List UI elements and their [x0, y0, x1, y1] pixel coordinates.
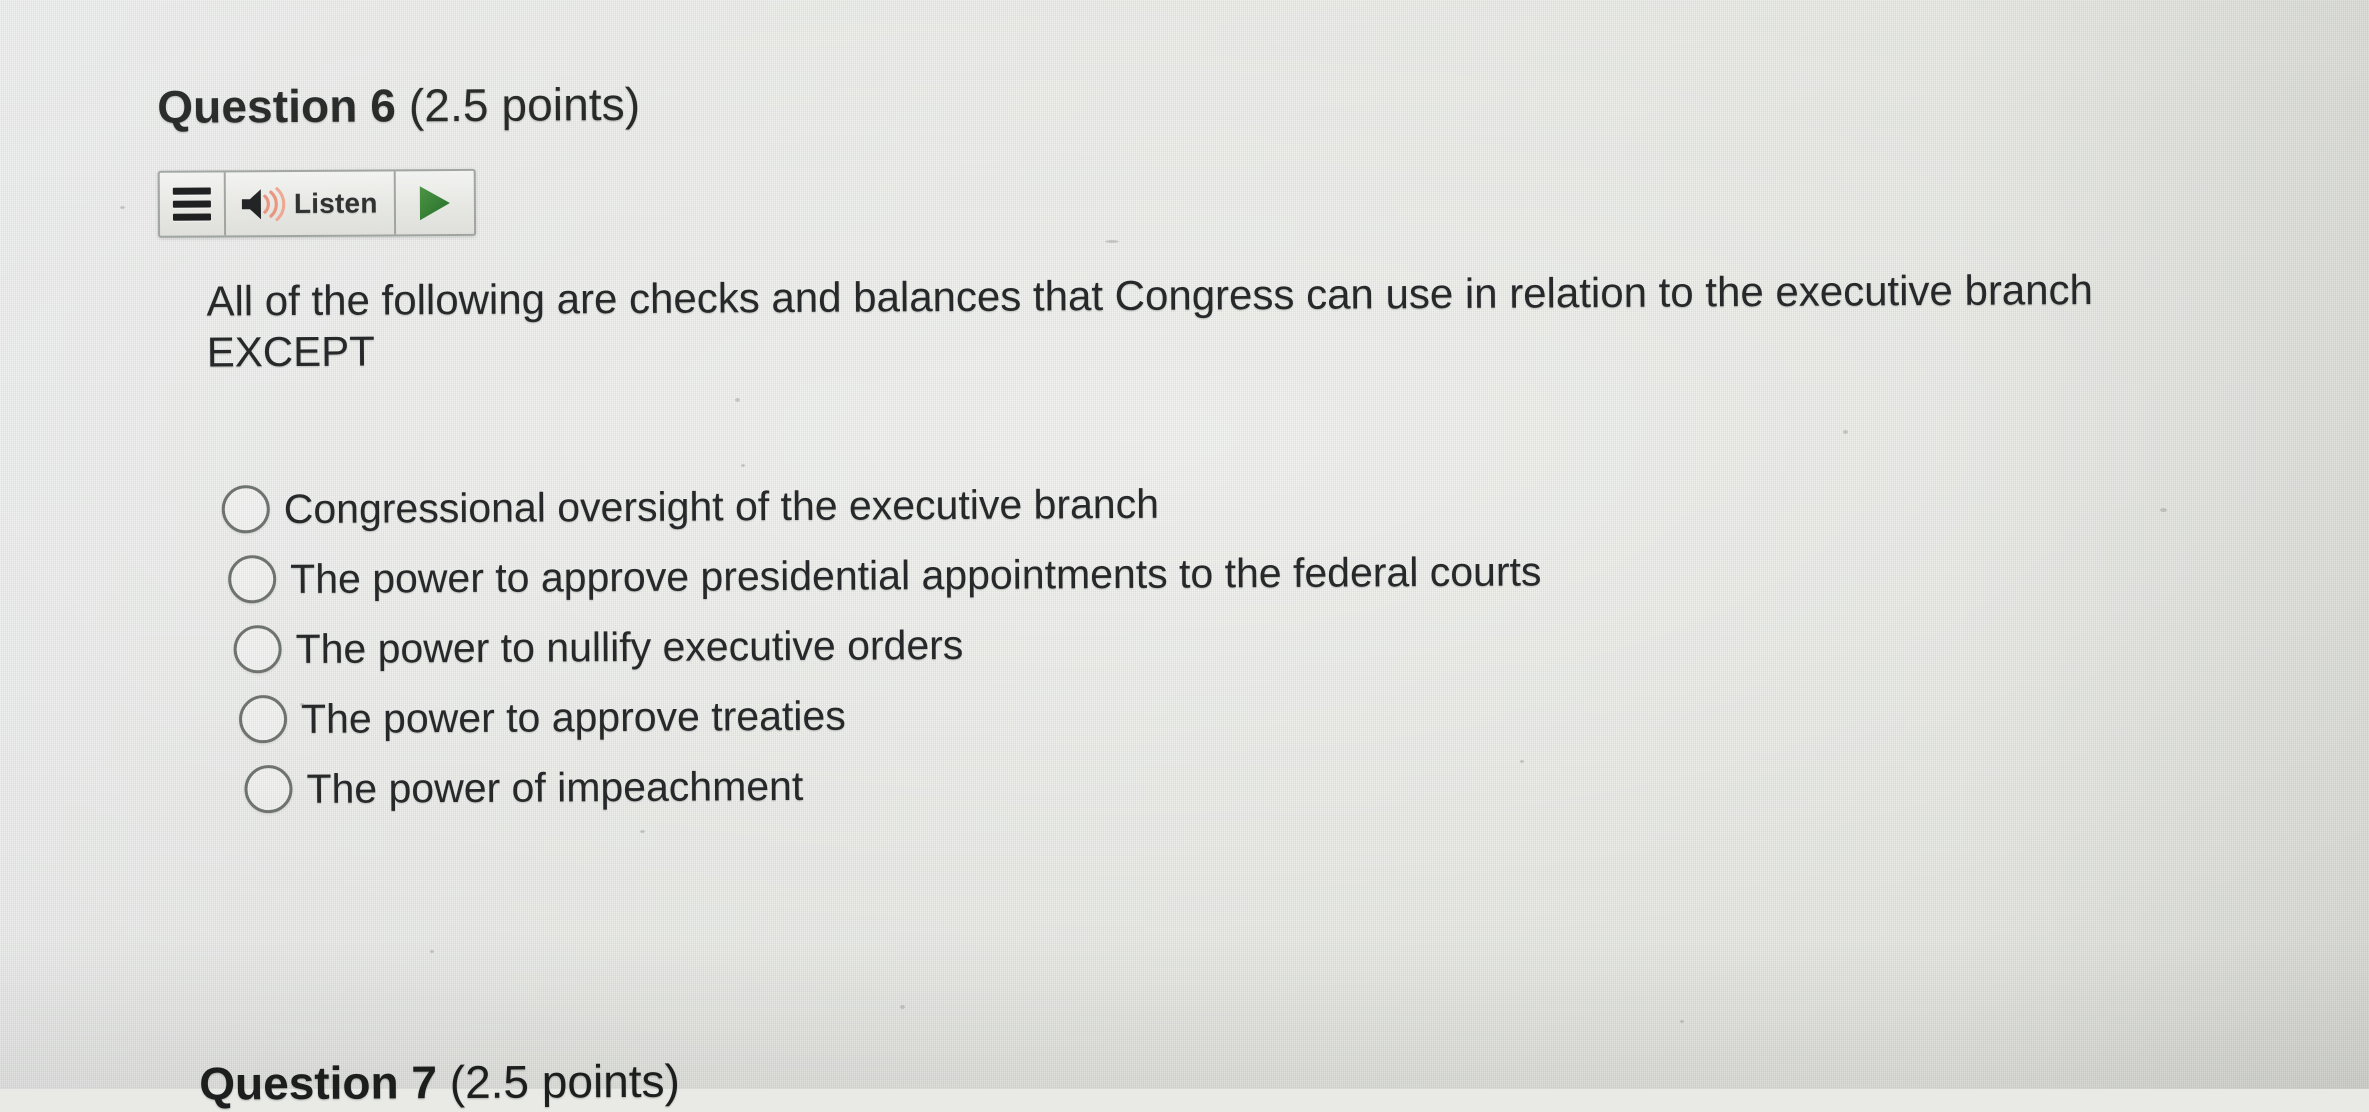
listen-button-label: Listen — [294, 187, 378, 220]
radio-button[interactable] — [239, 695, 287, 743]
next-question-number: Question 7 — [199, 1056, 437, 1109]
radio-button[interactable] — [244, 765, 292, 813]
play-button[interactable] — [395, 171, 473, 234]
speaker-sound-icon — [240, 187, 286, 221]
next-question-title: Question 7 (2.5 points) — [199, 1054, 680, 1111]
answer-option-label: The power to approve treaties — [301, 692, 846, 742]
radio-button[interactable] — [228, 555, 276, 603]
question-number: Question 6 — [157, 79, 396, 132]
answer-option[interactable]: The power of impeachment — [244, 742, 2273, 824]
page-title: Question 6 (2.5 points) — [157, 77, 640, 134]
readspeaker-toolbar: Listen — [158, 169, 476, 238]
answer-option-label: The power to approve presidential appoin… — [290, 548, 1542, 603]
answer-option-label: The power to nullify executive orders — [295, 621, 963, 672]
quiz-content: Question 6 (2.5 points) Listen — [0, 0, 2369, 1095]
play-triangle-icon — [415, 183, 453, 223]
answer-option[interactable]: The power to approve presidential appoin… — [228, 532, 2272, 614]
answer-option[interactable]: Congressional oversight of the executive… — [222, 462, 2272, 545]
answer-option[interactable]: The power to nullify executive orders — [233, 602, 2272, 684]
listen-button[interactable]: Listen — [226, 171, 396, 235]
radio-button[interactable] — [222, 485, 270, 533]
hamburger-menu-icon — [173, 187, 211, 220]
answer-option-label: Congressional oversight of the executive… — [284, 480, 1159, 532]
answer-option-label: The power of impeachment — [306, 762, 803, 812]
answer-option[interactable]: The power to approve treaties — [239, 672, 2273, 754]
radio-button[interactable] — [233, 625, 281, 673]
next-question-points: (2.5 points) — [437, 1055, 680, 1108]
question-prompt: All of the following are checks and bala… — [206, 265, 2167, 379]
readspeaker-menu-button[interactable] — [160, 172, 226, 235]
answer-options-list: Congressional oversight of the executive… — [222, 462, 2274, 825]
question-points: (2.5 points) — [396, 78, 641, 131]
